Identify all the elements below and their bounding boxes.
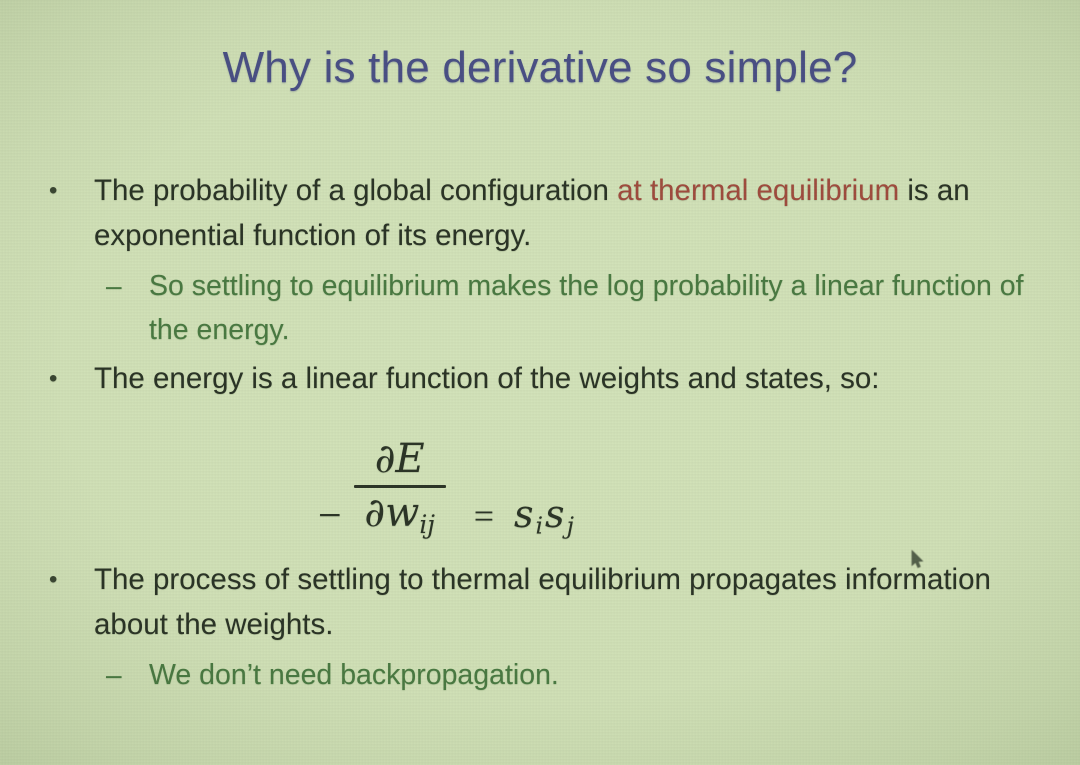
equation-denominator-subscript: ij <box>419 510 435 539</box>
bullet-marker-icon: • <box>49 168 57 213</box>
subbullet-text-2: We don’t need backpropagation. <box>149 659 559 691</box>
bullet-text-1-before: The probability of a global configuratio… <box>94 174 617 207</box>
rhs-subscript-2: j <box>567 512 576 540</box>
equation-minus-sign: − <box>318 495 342 537</box>
rhs-variable-2: s <box>545 492 567 536</box>
equation-numerator-variable: E <box>395 436 424 482</box>
bullet-text-1-highlight: at thermal equilibrium <box>617 174 899 207</box>
subbullet-marker-icon: – <box>106 264 122 308</box>
bullet-item-3: • The process of settling to thermal equ… <box>44 557 1034 647</box>
bullet-text-2: The energy is a linear function of the w… <box>94 362 879 395</box>
equation-denominator-variable: w <box>385 490 419 536</box>
slide-canvas: Why is the derivative so simple? • The p… <box>0 0 1080 765</box>
equation-denominator: ∂wij <box>358 491 441 539</box>
slide-body: • The probability of a global configurat… <box>44 168 1034 701</box>
bullet-marker-icon: • <box>49 557 57 602</box>
bullet-item-2: • The energy is a linear function of the… <box>44 356 1034 401</box>
equation-equals-sign: = <box>474 495 494 537</box>
equation-numerator: ∂E <box>369 437 431 482</box>
subbullet-item-2: – We don’t need backpropagation. <box>44 653 1034 697</box>
subbullet-item-1: – So settling to equilibrium makes the l… <box>44 264 1034 352</box>
equation-right-hand-side: sisj <box>514 492 576 540</box>
partial-symbol-numerator: ∂ <box>375 436 396 482</box>
rhs-variable-1: s <box>514 492 536 536</box>
slide-title: Why is the derivative so simple? <box>0 43 1080 93</box>
bullet-marker-icon: • <box>49 356 57 401</box>
bullet-text-3: The process of settling to thermal equil… <box>94 563 991 641</box>
equation-fraction: ∂E ∂wij <box>354 437 446 539</box>
subbullet-marker-icon: – <box>106 653 122 697</box>
partial-symbol-denominator: ∂ <box>364 490 385 536</box>
subbullet-text-1: So settling to equilibrium makes the log… <box>149 270 1023 346</box>
bullet-text-1: The probability of a global configuratio… <box>94 174 970 252</box>
bullet-item-1: • The probability of a global configurat… <box>44 168 1034 258</box>
rhs-subscript-1: i <box>536 512 546 540</box>
derivative-equation: − ∂E ∂wij = sisj <box>318 437 576 539</box>
fraction-bar <box>354 485 446 489</box>
